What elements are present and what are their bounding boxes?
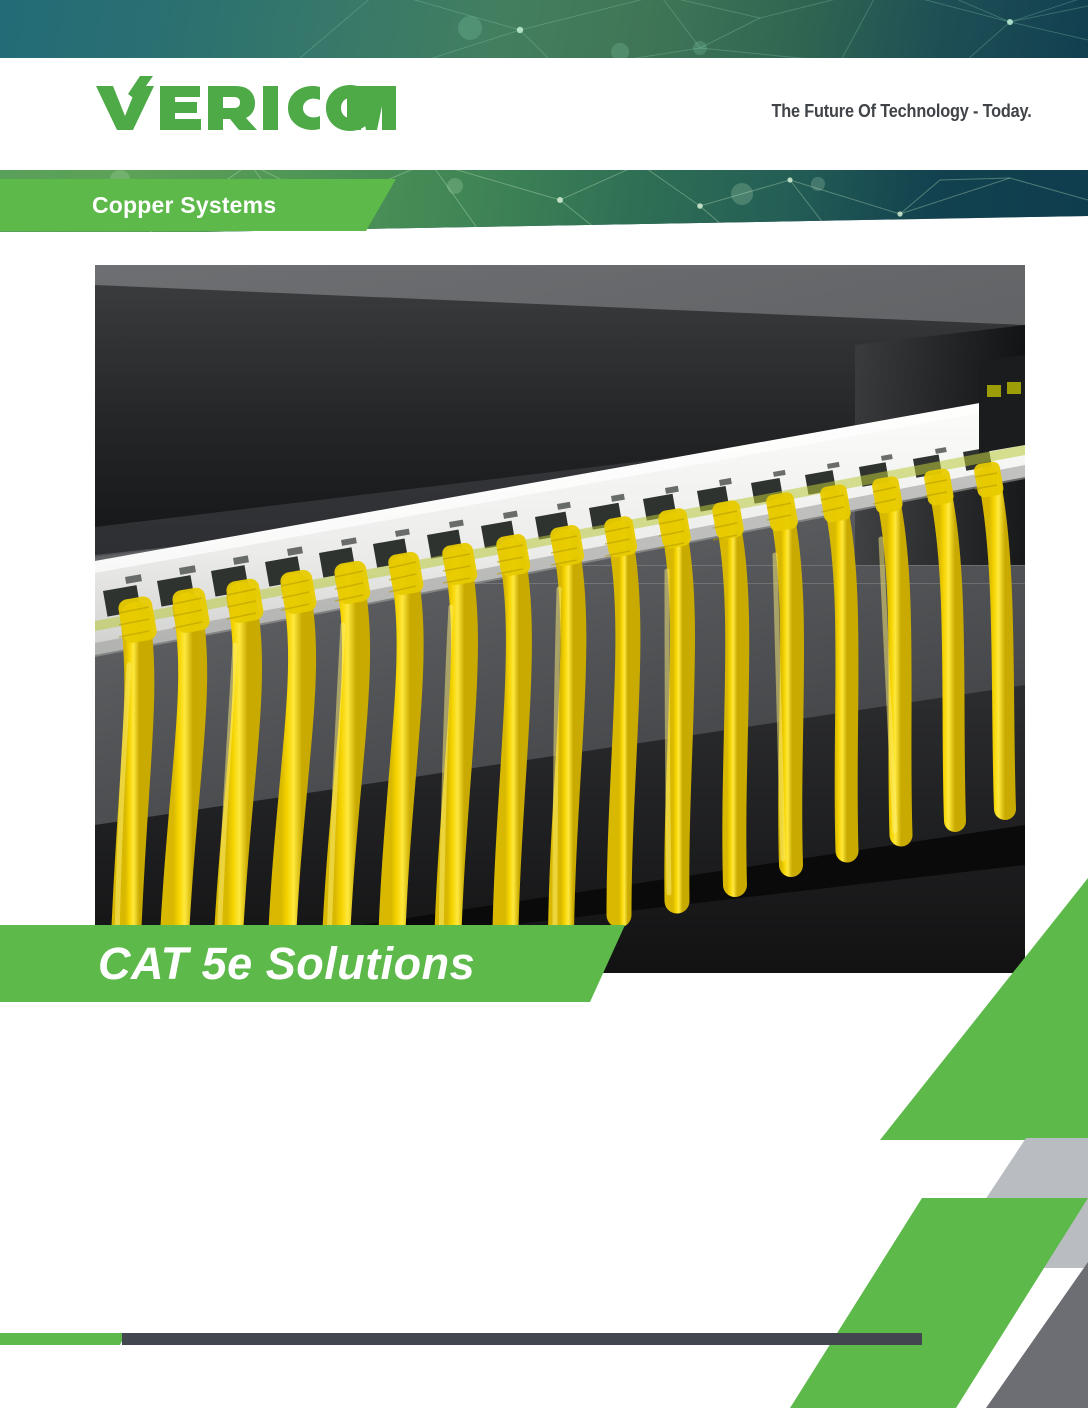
registered-mark: ®	[388, 87, 396, 99]
vericom-logo-icon: ®	[96, 74, 396, 134]
hero-image	[95, 265, 1025, 973]
brand-tagline: The Future Of Technology - Today.	[772, 100, 1032, 122]
footer-rule-dark	[122, 1333, 922, 1345]
footer-rule-green	[0, 1333, 126, 1345]
category-banner-label: Copper Systems	[92, 192, 276, 219]
network-mesh-icon	[0, 0, 1088, 58]
header-network-band	[0, 0, 1088, 58]
page-title: CAT 5e Solutions	[98, 938, 475, 990]
category-banner: Copper Systems	[0, 179, 396, 231]
page-title-banner: CAT 5e Solutions	[0, 925, 625, 1002]
brand-logo: ®	[96, 74, 396, 134]
page-root: ® The Future Of Technology - Today.	[0, 0, 1088, 1408]
patch-panel-illustration	[95, 265, 1025, 973]
